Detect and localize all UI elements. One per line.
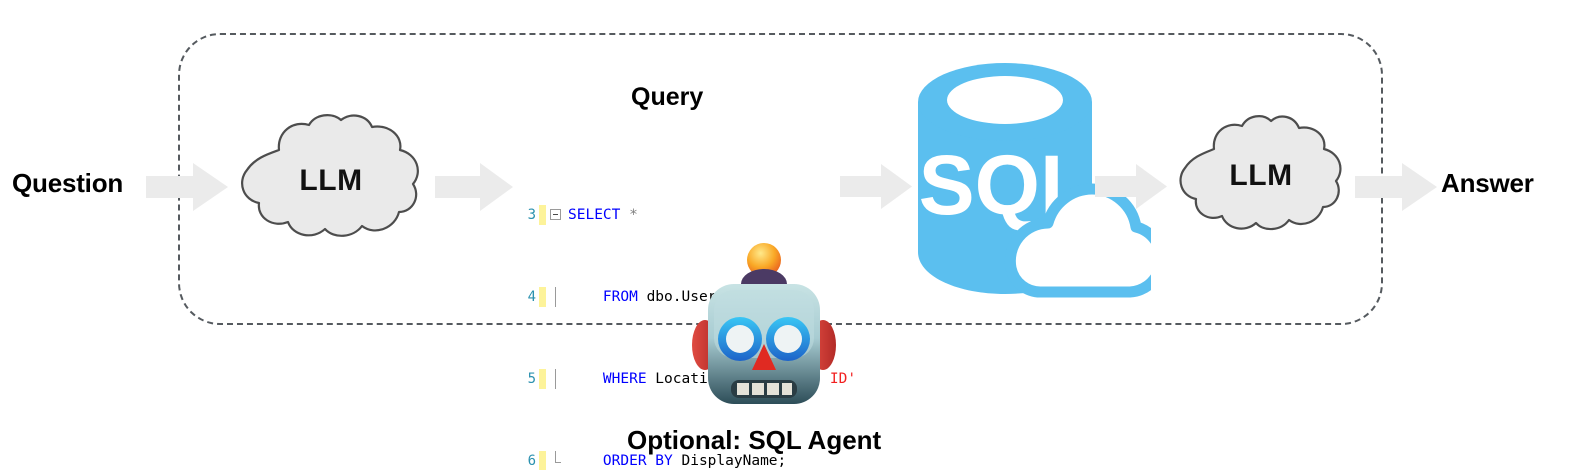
line-number: 4 <box>519 287 536 308</box>
fold-line <box>555 287 556 308</box>
agent-caption: Optional: SQL Agent <box>627 425 881 456</box>
query-section-title: Query <box>631 83 703 112</box>
code-line: 3 SELECT * <box>519 205 856 226</box>
change-bar <box>539 369 546 390</box>
change-bar <box>539 451 546 470</box>
change-bar <box>539 287 546 308</box>
arrow-right-icon-llm-to-query <box>435 163 513 211</box>
diagram-canvas: Question LLM Query 3 SELECT * 4 <box>0 0 1571 470</box>
arrow-right-icon-sql-to-llm <box>1095 164 1167 209</box>
llm-label-first: LLM <box>233 164 429 198</box>
llm-node-second: LLM <box>1172 113 1350 235</box>
output-label-answer: Answer <box>1441 168 1534 199</box>
collapse-box-icon[interactable] <box>550 209 561 220</box>
input-label-question: Question <box>12 168 123 199</box>
code-line-text: SELECT * <box>565 205 638 226</box>
change-bar <box>539 205 546 226</box>
fold-gutter <box>546 369 565 390</box>
line-number: 5 <box>519 369 536 390</box>
llm-label-second: LLM <box>1172 159 1350 193</box>
fold-gutter <box>546 287 565 308</box>
arrow-right-icon-question-to-llm <box>146 163 228 211</box>
robot-face-icon <box>688 240 840 415</box>
line-number: 6 <box>519 451 536 470</box>
arrow-right-icon-llm-to-answer <box>1355 163 1437 211</box>
fold-gutter[interactable] <box>546 205 565 226</box>
llm-node-first: LLM <box>233 112 429 242</box>
fold-line-end <box>555 451 556 463</box>
fold-gutter <box>546 451 565 470</box>
line-number: 3 <box>519 205 536 226</box>
fold-line <box>555 369 556 390</box>
